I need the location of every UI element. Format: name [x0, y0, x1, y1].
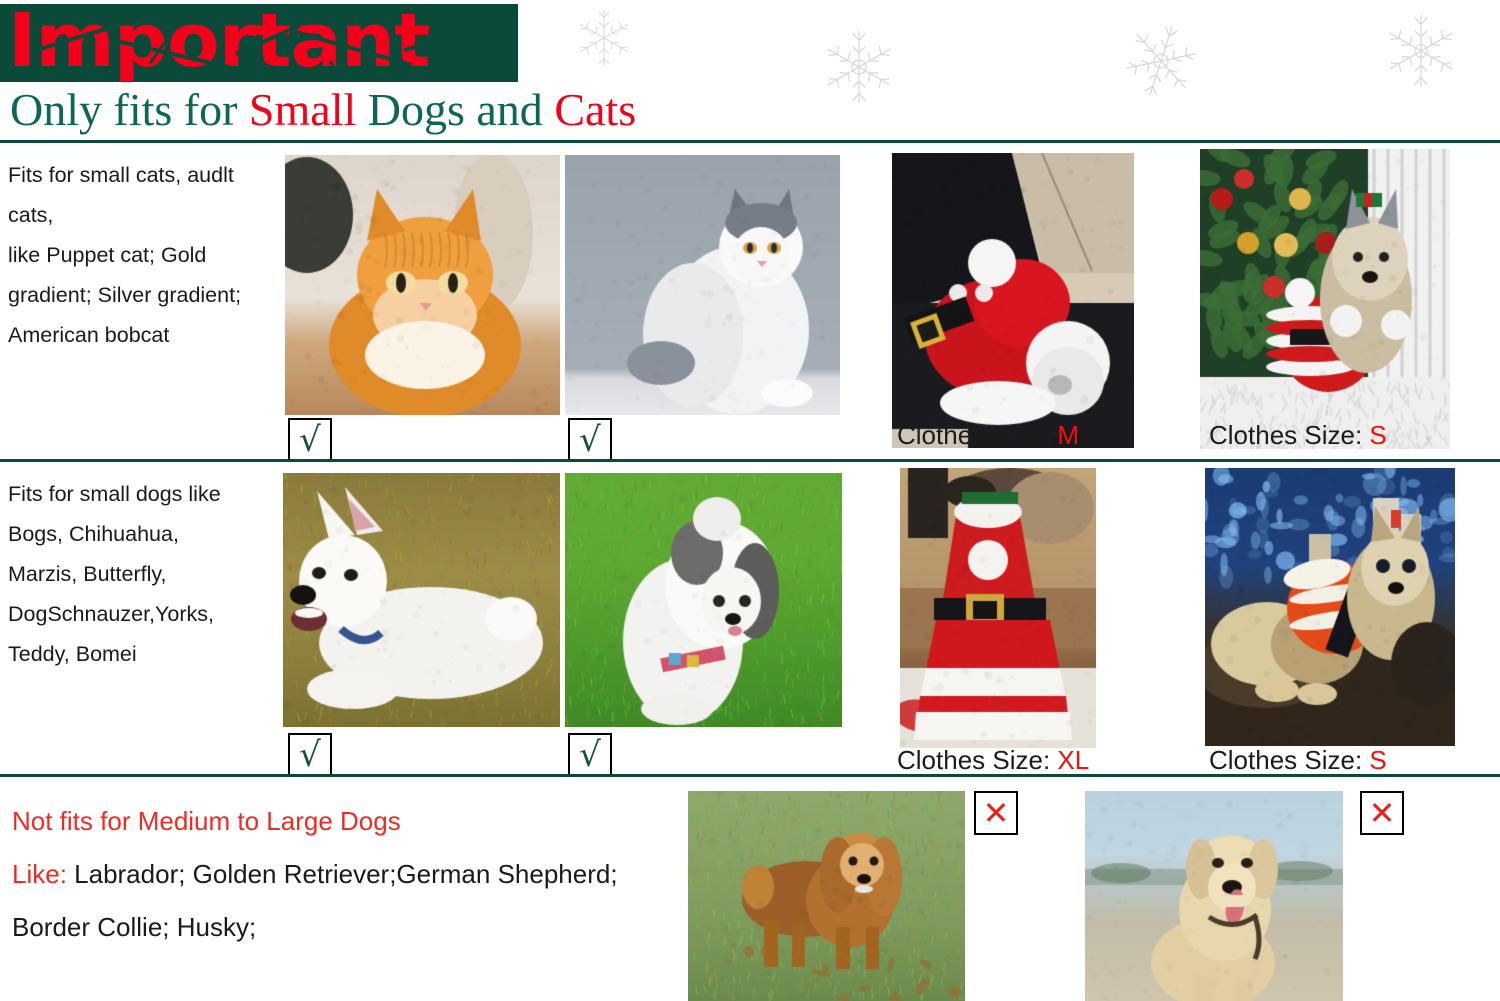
snowflake-icon: [574, 8, 634, 68]
cross-icon: ✕: [983, 797, 1010, 829]
cats-description: Fits for small cats, audlt cats, like Pu…: [8, 155, 276, 355]
row-small-cats: Fits for small cats, audlt cats, like Pu…: [0, 143, 1500, 459]
dogs-description-line: DogSchnauzer,Yorks,: [8, 594, 276, 634]
subtitle: Only fits for Small Dogs and Cats: [10, 84, 636, 136]
clothes-size-text: Clothes Size:: [897, 745, 1057, 775]
yorkie-santa-suit-tree-photo: [1200, 149, 1450, 449]
dogs-description: Fits for small dogs like Bogs, Chihuahua…: [8, 474, 276, 674]
dogs-description-line: Bogs, Chihuahua,: [8, 514, 276, 554]
dogs-description-line: Marzis, Butterfly,: [8, 554, 276, 594]
cats-description-line: Fits for small cats, audlt cats,: [8, 155, 276, 235]
checkmark-box: √: [568, 733, 612, 777]
shih-tzu-grass-photo: [565, 473, 842, 727]
subtitle-text-cats: Cats: [554, 84, 636, 135]
clothes-size-label: Clothes Size: M: [897, 420, 1079, 450]
clothes-size-label: Clothes Size: XL: [897, 745, 1089, 775]
cats-description-line: American bobcat: [8, 315, 276, 355]
check-icon: √: [299, 738, 321, 772]
grey-white-fluffy-cat-photo: [565, 155, 840, 415]
clothes-size-label: Clothes Size: S: [1209, 420, 1387, 450]
clothes-size-value: S: [1369, 420, 1386, 450]
row-large-dogs: Not fits for Medium to Large Dogs Like: …: [0, 777, 1500, 1001]
large-dogs-breeds-1: Labrador; Golden Retriever;German Shephe…: [67, 859, 618, 889]
row-small-dogs: Fits for small dogs like Bogs, Chihuahua…: [0, 462, 1500, 774]
west-highland-terrier-photo: [283, 473, 560, 727]
subtitle-text-3: Dogs and: [356, 84, 554, 135]
header-banner-area: Important Only fits for Small Dogs and C…: [0, 0, 1500, 143]
clothes-size-value: S: [1369, 745, 1386, 775]
yorkie-orange-santa-photo: [1205, 468, 1455, 746]
dogs-description-line: Teddy, Bomei: [8, 634, 276, 674]
shih-tzu-santa-suit-photo: [892, 153, 1134, 448]
cocker-spaniel-photo: [688, 791, 965, 1001]
crack-decoration: [429, 19, 449, 50]
dog-santa-suit-back-photo: [900, 468, 1096, 748]
check-icon: √: [579, 738, 601, 772]
clothes-size-label: Clothes Size: S: [1209, 745, 1387, 775]
clothes-size-value: M: [1057, 420, 1079, 450]
important-label: Important: [8, 4, 430, 82]
check-icon: √: [579, 423, 601, 457]
important-banner: Important: [0, 4, 518, 82]
large-dogs-line2: Like: Labrador; Golden Retriever;German …: [12, 848, 712, 901]
clothes-size-text: Clothes Size:: [1209, 420, 1369, 450]
checkmark-box: √: [288, 418, 332, 462]
large-dogs-breeds-2: Border Collie; Husky;: [12, 901, 712, 954]
large-dogs-headline: Not fits for Medium to Large Dogs: [12, 795, 712, 848]
subtitle-text-small: Small: [249, 84, 356, 135]
clothes-size-text: Clothes Size:: [897, 420, 1057, 450]
check-icon: √: [299, 423, 321, 457]
checkmark-box: √: [568, 418, 612, 462]
cross-icon: ✕: [1369, 797, 1396, 829]
large-dogs-like-label: Like:: [12, 859, 67, 889]
cross-box: ✕: [974, 791, 1018, 835]
large-dogs-description: Not fits for Medium to Large Dogs Like: …: [12, 795, 712, 954]
clothes-size-value: XL: [1057, 745, 1089, 775]
snowflake-icon: [820, 28, 898, 106]
snowflake-icon: [1382, 12, 1460, 90]
snowflake-icon: [1122, 22, 1200, 100]
cats-description-line: like Puppet cat; Gold: [8, 235, 276, 275]
subtitle-text-1: Only fits for: [10, 84, 249, 135]
checkmark-box: √: [288, 733, 332, 777]
labrador-photo: [1085, 791, 1343, 1001]
cross-box: ✕: [1360, 791, 1404, 835]
cats-description-line: gradient; Silver gradient;: [8, 275, 276, 315]
dogs-description-line: Fits for small dogs like: [8, 474, 276, 514]
clothes-size-text: Clothes Size:: [1209, 745, 1369, 775]
orange-tabby-cat-photo: [285, 155, 560, 415]
